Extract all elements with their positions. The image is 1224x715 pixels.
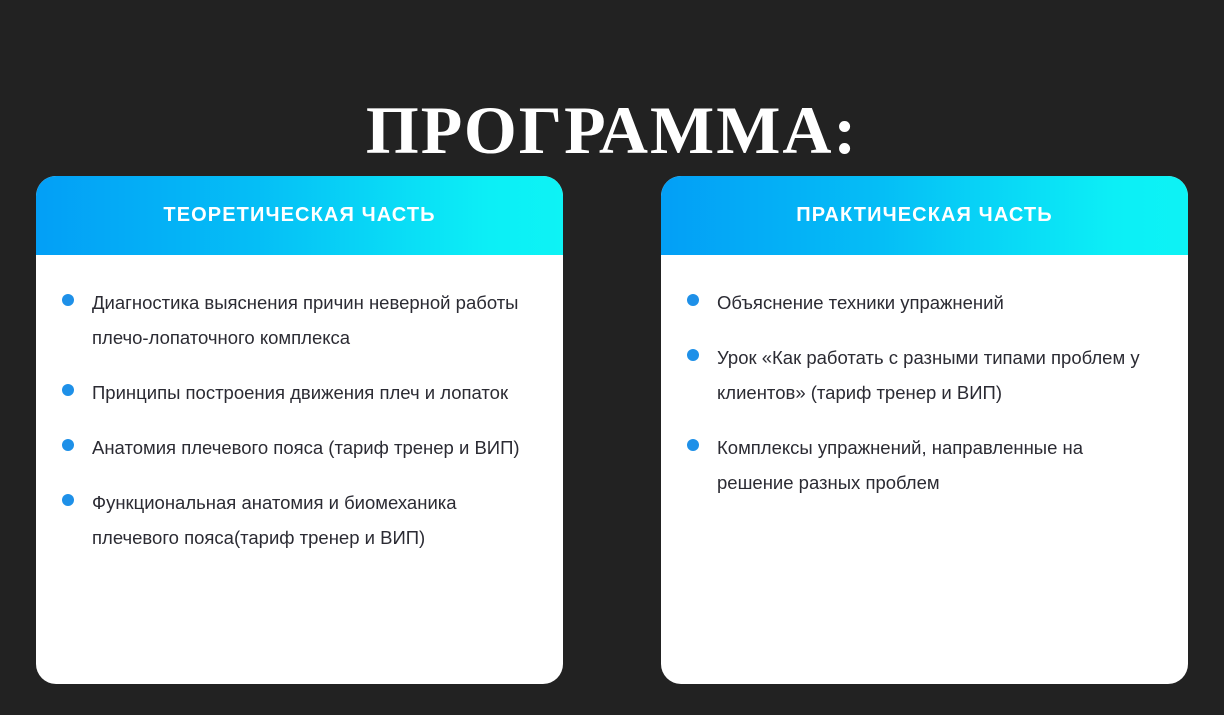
list-item: Урок «Как работать с разными типами проб… (687, 340, 1162, 410)
card-practice-body: Объяснение техники упражнений Урок «Как … (661, 255, 1188, 684)
list-item-label: Анатомия плечевого пояса (тариф тренер и… (92, 430, 537, 465)
list-item-label: Функциональная анатомия и биомеханика пл… (92, 485, 537, 555)
bullet-dot-icon (687, 294, 699, 306)
program-slide: { "page": { "title": "ПРОГРАММА:", "back… (0, 0, 1224, 715)
card-theory: ТЕОРЕТИЧЕСКАЯ ЧАСТЬ Диагностика выяснени… (36, 176, 563, 684)
list-item: Объяснение техники упражнений (687, 285, 1162, 320)
list-item: Диагностика выяснения причин неверной ра… (62, 285, 537, 355)
list-item-label: Объяснение техники упражнений (717, 285, 1162, 320)
program-cards-row: ТЕОРЕТИЧЕСКАЯ ЧАСТЬ Диагностика выяснени… (36, 176, 1188, 684)
card-practice-header-label: ПРАКТИЧЕСКАЯ ЧАСТЬ (796, 204, 1052, 227)
card-theory-header-label: ТЕОРЕТИЧЕСКАЯ ЧАСТЬ (163, 204, 435, 227)
page-title: ПРОГРАММА: (0, 92, 1224, 168)
bullet-dot-icon (62, 494, 74, 506)
bullet-dot-icon (687, 349, 699, 361)
list-item: Принципы построения движения плеч и лопа… (62, 375, 537, 410)
bullet-dot-icon (687, 439, 699, 451)
card-theory-header: ТЕОРЕТИЧЕСКАЯ ЧАСТЬ (36, 176, 563, 255)
theory-bullet-list: Диагностика выяснения причин неверной ра… (62, 285, 537, 555)
bullet-dot-icon (62, 384, 74, 396)
list-item-label: Комплексы упражнений, направленные на ре… (717, 430, 1162, 500)
list-item-label: Диагностика выяснения причин неверной ра… (92, 285, 537, 355)
list-item: Комплексы упражнений, направленные на ре… (687, 430, 1162, 500)
list-item-label: Принципы построения движения плеч и лопа… (92, 375, 537, 410)
list-item: Функциональная анатомия и биомеханика пл… (62, 485, 537, 555)
bullet-dot-icon (62, 294, 74, 306)
bullet-dot-icon (62, 439, 74, 451)
list-item-label: Урок «Как работать с разными типами проб… (717, 340, 1162, 410)
list-item: Анатомия плечевого пояса (тариф тренер и… (62, 430, 537, 465)
card-practice-header: ПРАКТИЧЕСКАЯ ЧАСТЬ (661, 176, 1188, 255)
card-practice: ПРАКТИЧЕСКАЯ ЧАСТЬ Объяснение техники уп… (661, 176, 1188, 684)
card-theory-body: Диагностика выяснения причин неверной ра… (36, 255, 563, 684)
practice-bullet-list: Объяснение техники упражнений Урок «Как … (687, 285, 1162, 500)
